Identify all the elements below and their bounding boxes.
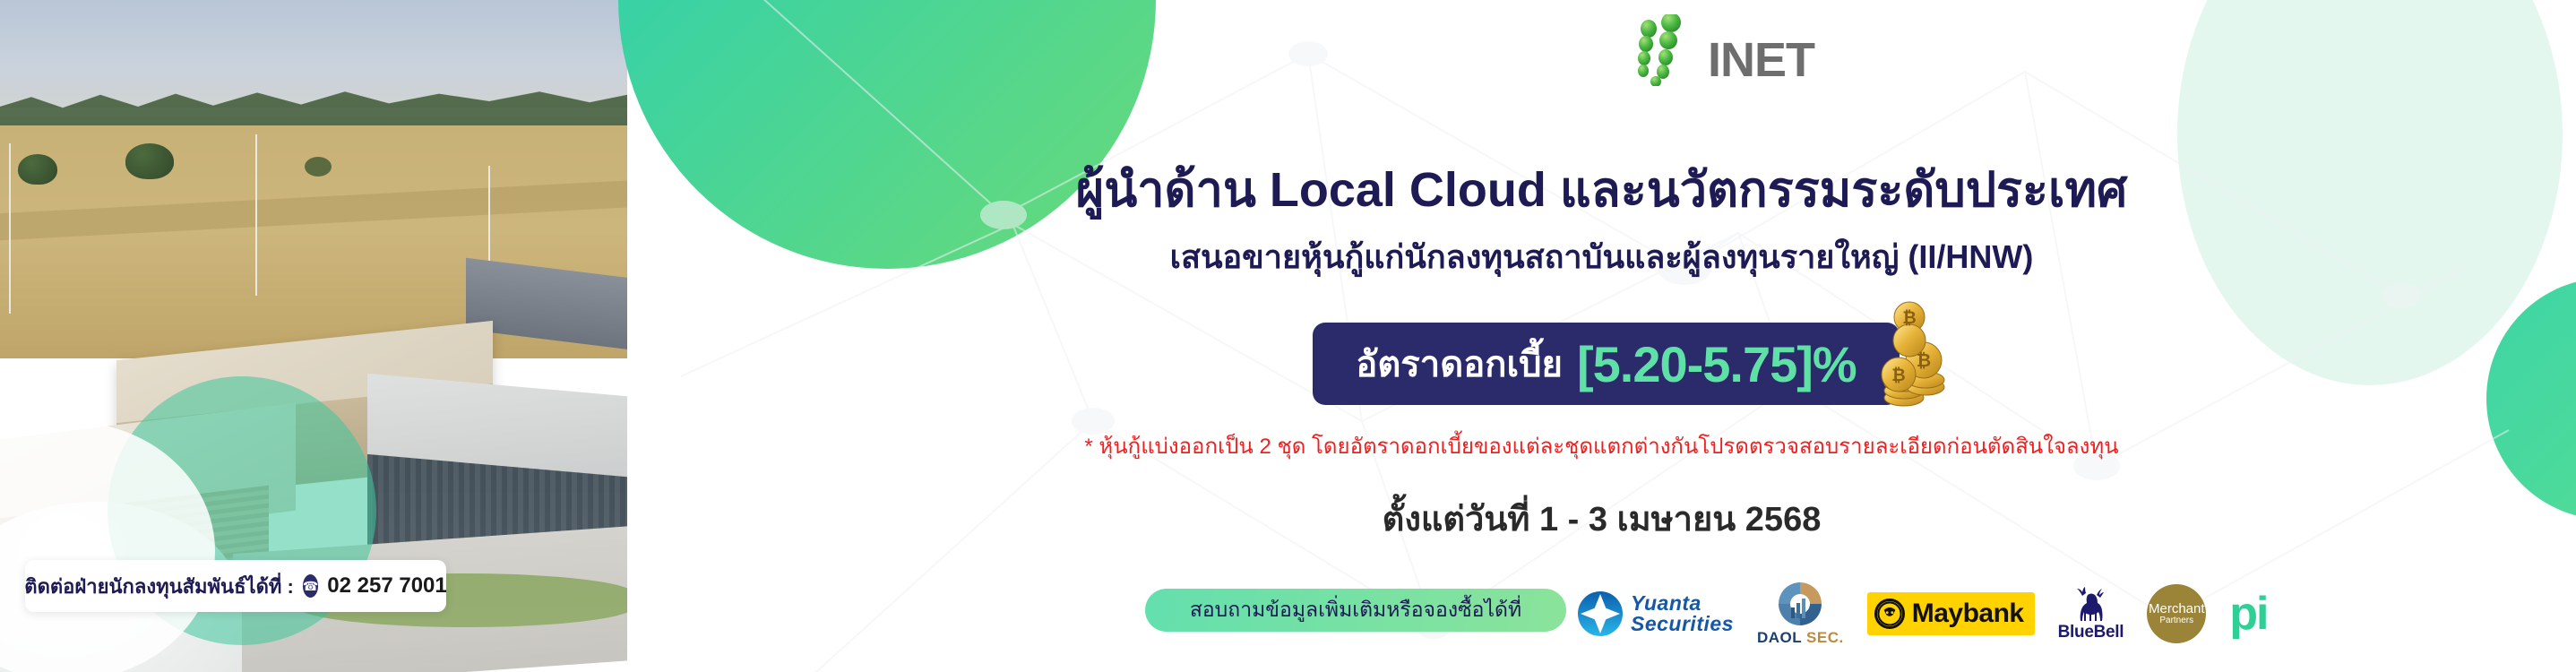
bluebell-wordmark: BlueBell [2058, 623, 2124, 642]
partner-logos: Yuanta Securities DAOL [1577, 573, 2527, 654]
bluebell-deer-icon [2070, 586, 2111, 622]
merchant-sub: Partners [2159, 616, 2193, 626]
svg-text:₿: ₿ [1917, 351, 1931, 371]
yuanta-line2: Securities [1631, 614, 1734, 634]
partner-bluebell[interactable]: BlueBell [2058, 586, 2124, 642]
yuanta-wordmark: Yuanta Securities [1631, 593, 1734, 634]
merchant-main: Merchant [2149, 602, 2205, 616]
daol-main: DAOL [1757, 629, 1802, 646]
yuanta-line1: Yuanta [1631, 593, 1734, 614]
disclaimer-text: * หุ้นกู้แบ่งออกเป็น 2 ชุด โดยอัตราดอกเบ… [627, 428, 2576, 463]
maybank-tiger-icon [1874, 599, 1905, 629]
maybank-wordmark: Maybank [1912, 599, 2024, 629]
partner-yuanta[interactable]: Yuanta Securities [1577, 590, 1734, 637]
contact-label: ติดต่อฝ่ายนักลงทุนสัมพันธ์ได้ที่ : [24, 571, 294, 602]
contact-phone[interactable]: 02 257 7001 [327, 573, 446, 599]
partner-pi[interactable]: pi [2229, 594, 2267, 633]
daol-wordmark: DAOL SEC. [1757, 629, 1844, 647]
partner-merchant[interactable]: Merchant Partners [2147, 584, 2206, 643]
daol-pie-icon [1777, 581, 1823, 627]
inet-logo[interactable]: INET [1629, 14, 1925, 79]
offer-date: ตั้งแต่วันที่ 1 - 3 เมษายน 2568 [627, 491, 2576, 546]
partner-daol[interactable]: DAOL SEC. [1757, 581, 1844, 647]
svg-text:₿: ₿ [1891, 366, 1905, 385]
cta-button[interactable]: สอบถามข้อมูลเพิ่มเติมหรือจองซื้อได้ที่ [1145, 589, 1566, 632]
interest-rate-box: อัตราดอกเบี้ย [5.20-5.75]% [1313, 323, 1900, 405]
interest-rate-label: อัตราดอกเบี้ย [1356, 335, 1563, 392]
investor-relations-contact[interactable]: ติดต่อฝ่ายนักลงทุนสัมพันธ์ได้ที่ : ☎ 02 … [25, 560, 446, 612]
inet-logo-text: INET [1708, 32, 1814, 88]
gold-coins-icon: ₿ ₿ ₿ [1868, 297, 1949, 414]
daol-sub: SEC. [1806, 629, 1844, 646]
phone-icon: ☎ [303, 574, 318, 598]
inet-dots-logo-icon [1629, 14, 1711, 86]
subheadline: เสนอขายหุ้นกู้แก่นักลงทุนสถาบันและผู้ลงท… [627, 231, 2576, 282]
content-column: INET ผู้นำด้าน Local Cloud และนวัตกรรมระ… [627, 0, 2576, 672]
headline: ผู้นำด้าน Local Cloud และนวัตกรรมระดับปร… [627, 151, 2576, 228]
interest-rate-value: [5.20-5.75]% [1577, 335, 1857, 393]
partner-maybank[interactable]: Maybank [1867, 592, 2035, 635]
yuanta-star-icon [1577, 590, 1624, 637]
svg-text:₿: ₿ [1902, 309, 1916, 328]
promotional-banner: INET ผู้นำด้าน Local Cloud และนวัตกรรมระ… [0, 0, 2576, 672]
